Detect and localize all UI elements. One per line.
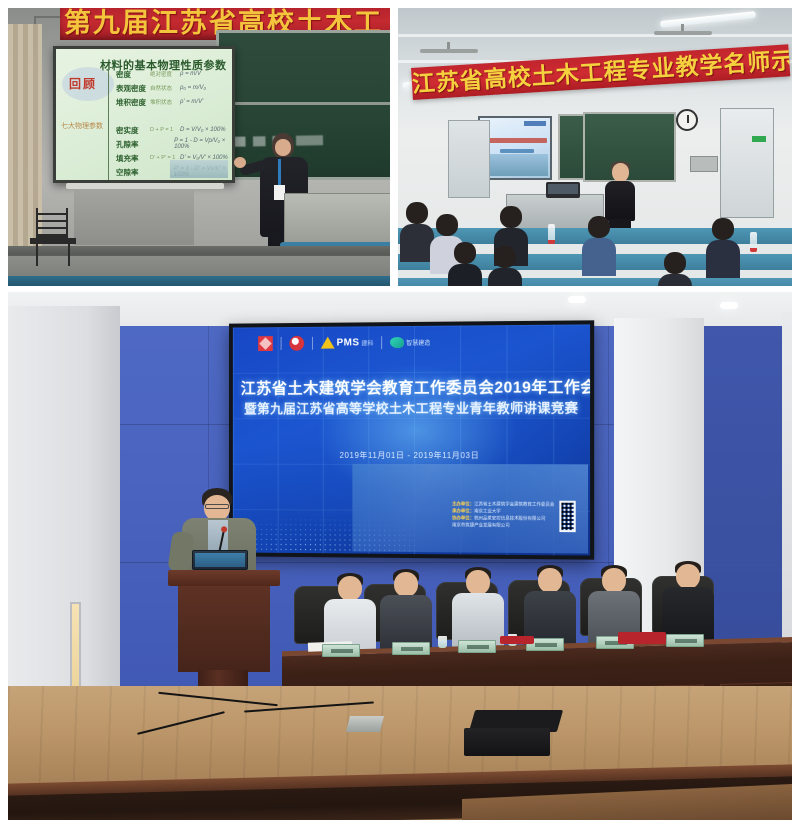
- audience-body: [400, 224, 434, 262]
- slide-badge-text: 回顾: [69, 75, 97, 92]
- floor-cable-plate: [346, 716, 384, 732]
- led-info-label: 协办单位：: [452, 515, 474, 520]
- slide-row-key: 表观密度: [116, 83, 150, 94]
- slide-row-key: 空隙率: [116, 167, 147, 178]
- audience-member: [660, 252, 690, 286]
- podium-top: [168, 570, 280, 586]
- led-info-block: 主办单位：江苏省土木建筑学会建筑教育工作委员会 承办单位：南京工业大学 协办单位…: [452, 500, 576, 541]
- slide-row-formula: ρ' = m/V': [180, 99, 203, 105]
- teacher-hand: [234, 157, 246, 168]
- led-date-line: 2019年11月01日 - 2019年11月03日: [233, 450, 590, 461]
- fan-blade: [448, 49, 478, 53]
- slide-row-key: 填充率: [116, 153, 150, 164]
- panel-member: [662, 564, 714, 642]
- audience-head: [712, 218, 734, 240]
- slide-row-key: 孔隙率: [116, 139, 147, 150]
- water-bottle: [548, 224, 555, 244]
- projection-screen: 材料的基本物理性质参数 回顾 七大物理参数 密度 绝对密度 ρ = m/V 表观…: [53, 46, 235, 183]
- pms-logo-text: PMS: [337, 337, 360, 348]
- podium-front-panel: [178, 586, 270, 672]
- red-folder: [618, 632, 666, 644]
- red-folder: [500, 636, 534, 644]
- exit-sign-icon: [752, 136, 766, 142]
- slide-row-formula: P = 1 - D = Vp/V₀ × 100%: [174, 138, 235, 150]
- fan-blade: [420, 49, 450, 53]
- chair-leg: [68, 244, 70, 266]
- audience-head: [454, 242, 476, 264]
- teacher-face: [275, 139, 291, 156]
- audience-member: [490, 246, 520, 286]
- conference-left-pillar: [8, 306, 120, 726]
- slide-row-key: 堆积密度: [116, 97, 150, 108]
- monitor-front-face: [464, 728, 550, 756]
- green-chalkboard-left: [558, 114, 586, 180]
- audience-head: [664, 252, 686, 274]
- slide-row: 孔隙率 P = 1 - D = Vp/V₀ × 100%: [116, 137, 235, 151]
- led-info-value: 杭州品茗安控信息技术股份有限公司: [474, 515, 545, 520]
- qr-code-pattern: [561, 503, 573, 530]
- slide-row: 堆积密度 堆积状态 ρ' = m/V': [116, 95, 235, 109]
- audience-head: [500, 206, 522, 228]
- led-info-label: 主办单位：: [452, 501, 474, 506]
- audience-body: [582, 238, 616, 276]
- led-title-line-2: 暨第九届江苏省高等学校土木工程专业青年教师讲课竞赛: [241, 398, 582, 418]
- speaker-glasses-icon: [205, 504, 229, 509]
- red-diamond-logo-icon: [258, 336, 273, 351]
- audience-head: [436, 214, 458, 236]
- classroom-door-left: [448, 120, 490, 198]
- audience-desk-area: [398, 194, 792, 286]
- led-info-value: 南京市筑捷产业发展有限公司: [452, 522, 510, 527]
- slide-row-key: 密度: [116, 69, 150, 80]
- slide-row-desc: D + P = 1: [150, 127, 180, 133]
- audience-member: [450, 242, 480, 286]
- chair-back: [36, 208, 68, 238]
- slide-review-badge: 回顾: [62, 67, 114, 101]
- audience-head: [494, 246, 516, 268]
- conference-hall-photo: PMS 建科 智慧建造 江苏省土木建筑学会教育工作委员会2019年工作会议 暨第…: [8, 292, 792, 820]
- led-info-line: 南京市筑捷产业发展有限公司: [452, 521, 554, 529]
- slide-brace: [108, 67, 114, 183]
- panel-nameplate: [392, 642, 430, 655]
- member-head: [602, 568, 626, 593]
- panel-member: [524, 568, 576, 646]
- led-info-lines: 主办单位：江苏省土木建筑学会建筑教育工作委员会 承办单位：南京工业大学 协办单位…: [452, 500, 554, 529]
- pms-triangle-icon: [321, 337, 335, 349]
- led-info-label: 承办单位：: [452, 508, 474, 513]
- slide-row: 表观密度 自然状态 ρ₀ = m/V₀: [116, 81, 235, 95]
- qr-code-icon: [559, 501, 575, 532]
- logo-separator: [281, 337, 282, 350]
- panel-member: [452, 570, 504, 648]
- panel-member: [380, 572, 432, 650]
- slide-inset-photo: [170, 160, 228, 178]
- led-logo-row: PMS 建科 智慧建造: [258, 332, 430, 353]
- stage-monitor-speaker: [464, 710, 560, 758]
- led-display-screen: PMS 建科 智慧建造 江苏省土木建筑学会教育工作委员会2019年工作会议 暨第…: [229, 320, 594, 559]
- laptop-screen: [192, 550, 248, 570]
- green-wave-logo-icon: 智慧建造: [390, 336, 430, 347]
- slide-row: 密度 绝对密度 ρ = m/V: [116, 67, 235, 81]
- chair-leg: [36, 244, 38, 266]
- led-info-value: 南京工业大学: [474, 508, 501, 513]
- slide-row: 密实度 D + P = 1 D = V/V₀ × 100%: [116, 123, 235, 137]
- logo-separator: [312, 336, 313, 349]
- slide-row-formula: ρ₀ = m/V₀: [180, 85, 206, 91]
- audience-body: [448, 264, 482, 286]
- green-logo-subtext: 智慧建造: [406, 337, 430, 346]
- member-head: [466, 570, 490, 595]
- teacher-lanyard: [278, 159, 281, 187]
- university-logo: [524, 121, 546, 126]
- slide-row-desc: 自然状态: [150, 84, 180, 92]
- audience-member: [708, 218, 738, 278]
- wall-plaque: [690, 156, 718, 172]
- lecture-hall-demonstration-photo: 江苏省高校土木工程专业教学名师示范课: [398, 8, 792, 286]
- pms-logo-subtext: 建科: [361, 338, 373, 347]
- water-bottle: [750, 232, 757, 252]
- speaker-head: [612, 163, 629, 182]
- fan-blade: [654, 31, 684, 35]
- photo-collage: 第九届江苏省高校土木工 材料的基本物理性质参数 回顾 七大物理参数 密度 绝对密…: [0, 0, 800, 835]
- ceiling-fan: [420, 42, 478, 58]
- panel-nameplate: [666, 634, 704, 647]
- audience-head: [406, 202, 428, 224]
- panel-nameplate: [458, 640, 496, 653]
- audience-body: [488, 268, 522, 286]
- slide-row-desc: 堆积状态: [150, 98, 180, 106]
- ceiling-downlight: [720, 302, 738, 309]
- slide-row-formula: ρ = m/V: [180, 71, 201, 77]
- drinking-cup: [438, 636, 447, 648]
- classroom-chair: [30, 208, 76, 264]
- classroom-floor: [8, 276, 390, 286]
- member-head: [394, 572, 418, 597]
- led-title-block: 江苏省土木建筑学会教育工作委员会2019年工作会议 暨第九届江苏省高等学校土木工…: [233, 377, 590, 418]
- projection-title-bar: [487, 138, 547, 143]
- slide-row-formula: D = V/V₀ × 100%: [180, 127, 226, 133]
- led-wave-mesh-graphic: [235, 477, 418, 552]
- ceiling-fan: [654, 24, 712, 40]
- audience-body: [706, 240, 740, 278]
- slide-row-key: 密实度: [116, 125, 150, 136]
- classroom-lecture-photo: 第九届江苏省高校土木工 材料的基本物理性质参数 回顾 七大物理参数 密度 绝对密…: [8, 8, 390, 286]
- panel-nameplate: [322, 644, 360, 657]
- projection-photo: [482, 154, 548, 176]
- member-head: [676, 564, 700, 589]
- ceiling-beam: [398, 34, 792, 37]
- red-circle-logo-icon: [289, 335, 304, 350]
- slide-left-label: 七大物理参数: [61, 121, 103, 131]
- classroom-equipment-desk: [284, 193, 390, 243]
- fan-blade: [682, 31, 712, 35]
- led-info-value: 江苏省土木建筑学会建筑教育工作委员会: [474, 501, 554, 506]
- logo-separator: [381, 336, 382, 349]
- audience-member: [584, 216, 614, 276]
- audience-head: [588, 216, 610, 238]
- pms-logo-icon: PMS 建科: [321, 336, 374, 348]
- led-title-line-1: 江苏省土木建筑学会教育工作委员会2019年工作会议: [241, 377, 582, 399]
- wall-clock-icon: [676, 109, 698, 131]
- ceiling-downlight: [568, 296, 586, 303]
- audience-member: [402, 202, 432, 262]
- green-wave-shape-icon: [390, 337, 404, 348]
- audience-body: [658, 274, 692, 286]
- slide-row-desc: 绝对密度: [150, 70, 180, 78]
- member-head: [538, 568, 562, 593]
- member-head: [338, 576, 362, 601]
- podium-cabinet: [74, 189, 194, 245]
- projection-subtitle-bar: [500, 149, 534, 153]
